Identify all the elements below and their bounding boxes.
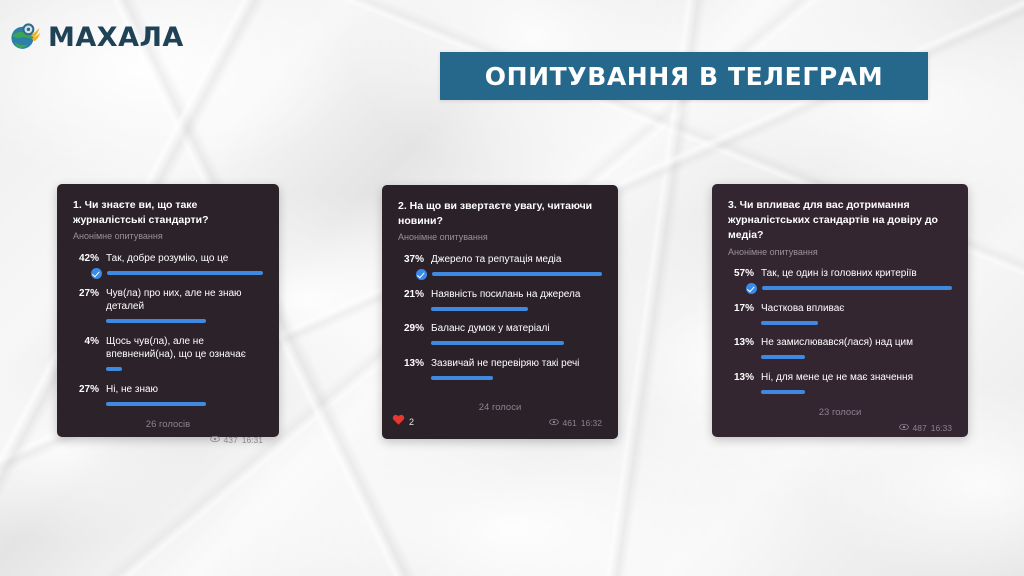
poll-view-count: 437 xyxy=(224,435,238,445)
poll-option-label: Часткова впливає xyxy=(761,302,952,316)
page-title: ОПИТУВАННЯ В ТЕЛЕГРАМ xyxy=(485,62,883,91)
poll-option-row: 37%Джерело та репутація медіа xyxy=(398,253,602,267)
poll-option-percent: 57% xyxy=(728,267,754,281)
poll-option-percent: 21% xyxy=(398,288,424,302)
poll-question: 2. На що ви звертаєте увагу, читаючи нов… xyxy=(398,199,602,229)
poll-bar-track xyxy=(431,307,602,311)
heart-icon xyxy=(392,413,405,431)
poll-option-row: 17%Часткова впливає xyxy=(728,302,952,316)
poll-option-row: 21%Наявність посилань на джерела xyxy=(398,288,602,302)
poll-option-bar-line xyxy=(761,353,952,362)
poll-bar-fill xyxy=(432,272,602,276)
reaction-badge[interactable]: 2 xyxy=(392,413,414,431)
poll-option-label: Чув(ла) про них, але не знаю деталей xyxy=(106,287,263,314)
poll-option[interactable]: 27%Чув(ла) про них, але не знаю деталей xyxy=(73,287,263,326)
poll-option-label: Так, добре розумію, що це xyxy=(106,252,263,266)
poll-card-2: 2. На що ви звертаєте увагу, читаючи нов… xyxy=(382,185,618,439)
poll-option-percent: 42% xyxy=(73,252,99,266)
poll-total-votes: 26 голосів xyxy=(73,419,263,430)
eye-icon xyxy=(899,422,909,434)
poll-option-percent: 27% xyxy=(73,287,99,301)
poll-bar-fill xyxy=(431,307,528,311)
poll-option-row: 13%Зазвичай не перевіряю такі речі xyxy=(398,357,602,371)
globe-bird-wheat-icon xyxy=(8,20,42,54)
poll-view-count: 487 xyxy=(913,423,927,433)
poll-total-votes: 23 голоси xyxy=(728,407,952,418)
poll-bar-track xyxy=(761,355,952,359)
poll-option[interactable]: 13%Не замислювався(лася) над цим xyxy=(728,336,952,362)
poll-option-percent: 17% xyxy=(728,302,754,316)
poll-subtitle: Анонімне опитування xyxy=(728,247,952,259)
poll-bar-track xyxy=(106,402,263,406)
poll-option-label: Ні, для мене це не має значення xyxy=(761,371,952,385)
poll-subtitle: Анонімне опитування xyxy=(73,231,263,243)
poll-bar-fill xyxy=(107,271,263,275)
poll-bar-track xyxy=(106,367,263,371)
poll-option[interactable]: 29%Баланс думок у матеріалі xyxy=(398,322,602,348)
poll-option-row: 27%Ні, не знаю xyxy=(73,383,263,397)
poll-card-3: 3. Чи впливає для вас дотримання журналі… xyxy=(712,184,968,437)
poll-option[interactable]: 27%Ні, не знаю xyxy=(73,383,263,409)
poll-question: 3. Чи впливає для вас дотримання журналі… xyxy=(728,198,952,244)
poll-option-label: Зазвичай не перевіряю такі речі xyxy=(431,357,602,371)
poll-option[interactable]: 21%Наявність посилань на джерела xyxy=(398,288,602,314)
eye-icon xyxy=(210,434,220,446)
poll-option-percent: 4% xyxy=(73,335,99,349)
poll-option-row: 13%Ні, для мене це не має значення xyxy=(728,371,952,385)
poll-option-bar-line xyxy=(106,399,263,408)
poll-option-bar-line xyxy=(431,304,602,313)
poll-option-row: 27%Чув(ла) про них, але не знаю деталей xyxy=(73,287,263,314)
poll-option-percent: 13% xyxy=(728,371,754,385)
poll-option-label: Щось чув(ла), але не впевнений(на), що ц… xyxy=(106,335,263,362)
poll-question: 1. Чи знаєте ви, що таке журналістські с… xyxy=(73,198,263,228)
poll-option-label: Не замислювався(лася) над цим xyxy=(761,336,952,350)
poll-bar-track xyxy=(107,271,263,275)
poll-bar-fill xyxy=(431,341,564,345)
poll-option-percent: 27% xyxy=(73,383,99,397)
brand-name: МАХАЛА xyxy=(48,22,184,53)
poll-subtitle: Анонімне опитування xyxy=(398,232,602,244)
poll-card-footer: 48716:33 xyxy=(728,422,952,434)
page-title-banner: ОПИТУВАННЯ В ТЕЛЕГРАМ xyxy=(440,52,928,100)
reaction-count: 2 xyxy=(409,417,414,427)
poll-bar-track xyxy=(431,341,602,345)
poll-option[interactable]: 37%Джерело та репутація медіа xyxy=(398,253,602,279)
poll-bar-track xyxy=(762,286,952,290)
poll-bar-fill xyxy=(106,402,206,406)
poll-option-percent: 37% xyxy=(398,253,424,267)
poll-option-bar-line xyxy=(761,284,952,293)
poll-option-bar-line xyxy=(106,365,263,374)
poll-option-row: 57%Так, це один із головних критеріїв xyxy=(728,267,952,281)
poll-option-bar-line xyxy=(761,387,952,396)
poll-option[interactable]: 4%Щось чув(ла), але не впевнений(на), що… xyxy=(73,335,263,374)
poll-option-bar-line xyxy=(106,317,263,326)
poll-bar-track xyxy=(432,272,602,276)
poll-option-label: Джерело та репутація медіа xyxy=(431,253,602,267)
poll-option-row: 42%Так, добре розумію, що це xyxy=(73,252,263,266)
poll-option[interactable]: 13%Зазвичай не перевіряю такі речі xyxy=(398,357,602,383)
poll-option-bar-line xyxy=(431,270,602,279)
poll-option-bar-line xyxy=(761,318,952,327)
poll-card-footer: 43716:31 xyxy=(73,434,263,446)
poll-bar-fill xyxy=(761,390,805,394)
poll-option[interactable]: 42%Так, добре розумію, що це xyxy=(73,252,263,278)
poll-bar-fill xyxy=(106,319,206,323)
checkmark-icon xyxy=(416,269,427,280)
poll-options: 57%Так, це один із головних критеріїв17%… xyxy=(728,267,952,405)
poll-option-row: 29%Баланс думок у матеріалі xyxy=(398,322,602,336)
poll-option-bar-line xyxy=(431,339,602,348)
poll-total-votes: 24 голоси xyxy=(398,402,602,413)
poll-option-label: Так, це один із головних критеріїв xyxy=(761,267,952,281)
poll-option-bar-line xyxy=(106,269,263,278)
poll-bar-fill xyxy=(762,286,952,290)
poll-option-percent: 29% xyxy=(398,322,424,336)
poll-option-label: Баланс думок у матеріалі xyxy=(431,322,602,336)
eye-icon xyxy=(549,417,559,429)
checkmark-icon xyxy=(746,283,757,294)
poll-option-percent: 13% xyxy=(728,336,754,350)
poll-option-label: Наявність посилань на джерела xyxy=(431,288,602,302)
brand-logo: МАХАЛА xyxy=(8,20,184,54)
poll-bar-fill xyxy=(761,355,805,359)
poll-bar-track xyxy=(431,376,602,380)
poll-option-bar-line xyxy=(431,373,602,382)
poll-options: 42%Так, добре розумію, що це27%Чув(ла) п… xyxy=(73,252,263,417)
poll-card-footer: 46116:32 xyxy=(398,417,602,429)
poll-bar-fill xyxy=(761,321,818,325)
poll-option-row: 4%Щось чув(ла), але не впевнений(на), що… xyxy=(73,335,263,362)
poll-option[interactable]: 57%Так, це один із головних критеріїв xyxy=(728,267,952,293)
poll-option-label: Ні, не знаю xyxy=(106,383,263,397)
poll-view-count: 461 xyxy=(563,418,577,428)
poll-bar-track xyxy=(106,319,263,323)
poll-bar-fill xyxy=(431,376,493,380)
poll-bar-track xyxy=(761,390,952,394)
poll-timestamp: 16:31 xyxy=(242,435,263,445)
poll-bar-fill xyxy=(106,367,122,371)
poll-timestamp: 16:32 xyxy=(581,418,602,428)
poll-timestamp: 16:33 xyxy=(931,423,952,433)
poll-option[interactable]: 13%Ні, для мене це не має значення xyxy=(728,371,952,397)
poll-bar-track xyxy=(761,321,952,325)
poll-option-row: 13%Не замислювався(лася) над цим xyxy=(728,336,952,350)
poll-card-1: 1. Чи знаєте ви, що таке журналістські с… xyxy=(57,184,279,437)
poll-options: 37%Джерело та репутація медіа21%Наявніст… xyxy=(398,253,602,400)
poll-option-percent: 13% xyxy=(398,357,424,371)
poll-option[interactable]: 17%Часткова впливає xyxy=(728,302,952,328)
checkmark-icon xyxy=(91,268,102,279)
